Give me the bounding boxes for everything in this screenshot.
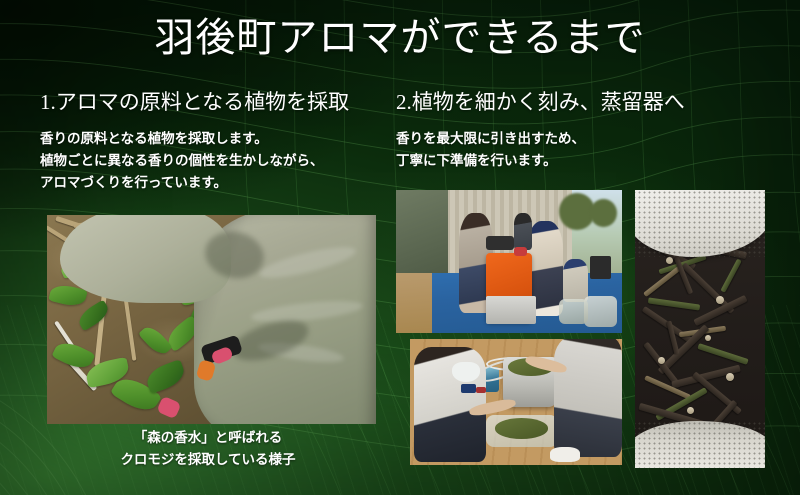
step-2-body: 香りを最大限に引き出すため、 丁寧に下準備を行います。: [396, 128, 768, 172]
infographic-canvas: 羽後町アロマができるまで 1.アロマの原料となる植物を採取 香りの原料となる植物…: [0, 0, 800, 495]
loading-still-photo: [410, 339, 622, 465]
step-1-body-line-1: 香りの原料となる植物を採取します。: [40, 128, 390, 150]
step-1-body-line-3: アロマづくりを行っています。: [40, 172, 390, 194]
page-title: 羽後町アロマができるまで: [0, 12, 800, 64]
wood-chipper-photo: [396, 190, 622, 333]
step-1-heading: 1.アロマの原料となる植物を採取: [40, 88, 390, 116]
caption-line-2: クロモジを採取している様子: [40, 449, 376, 471]
step-2-body-line-1: 香りを最大限に引き出すため、: [396, 128, 768, 150]
step-2-column: 2.植物を細かく刻み、蒸留器へ 香りを最大限に引き出すため、 丁寧に下準備を行い…: [396, 88, 768, 172]
step-1-column: 1.アロマの原料となる植物を採取 香りの原料となる植物を採取します。 植物ごとに…: [40, 88, 390, 194]
caption-line-1: 「森の香水」と呼ばれる: [40, 427, 376, 449]
step-2-body-line-2: 丁寧に下準備を行います。: [396, 150, 768, 172]
cut-branches-photo: [635, 190, 765, 468]
harvesting-plants-photo: [47, 215, 376, 424]
step-2-heading: 2.植物を細かく刻み、蒸留器へ: [396, 88, 768, 116]
step-1-body-line-2: 植物ごとに異なる香りの個性を生かしながら、: [40, 150, 390, 172]
step-1-body: 香りの原料となる植物を採取します。 植物ごとに異なる香りの個性を生かしながら、 …: [40, 128, 390, 194]
harvesting-photo-caption: 「森の香水」と呼ばれる クロモジを採取している様子: [40, 427, 376, 471]
